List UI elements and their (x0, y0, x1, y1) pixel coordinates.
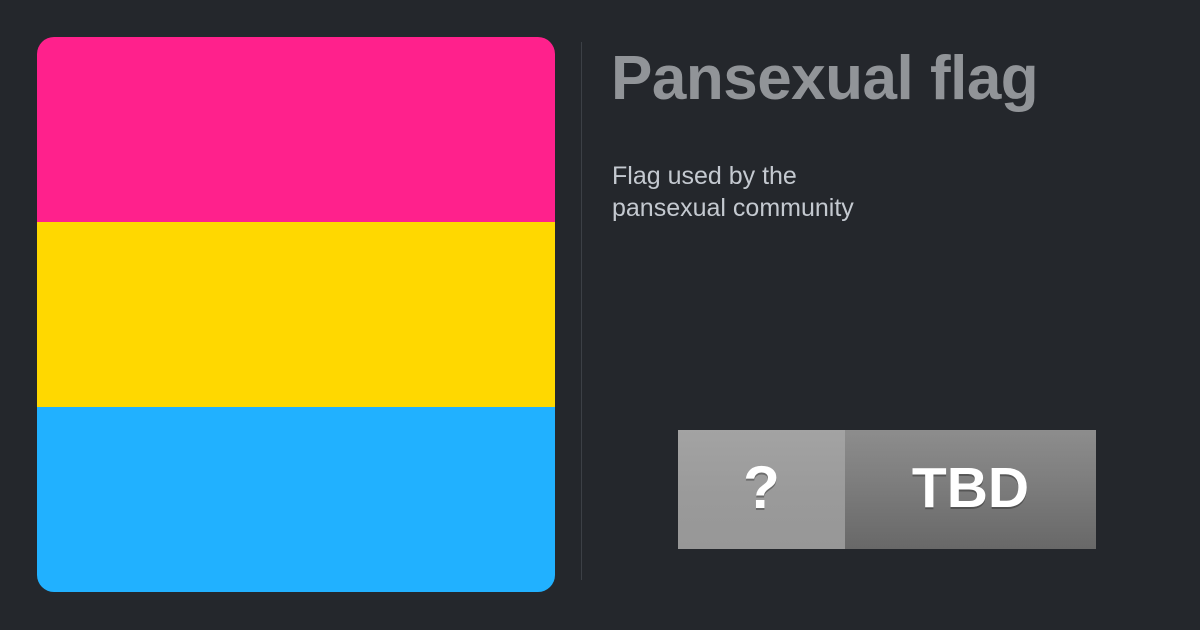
og-preview-card: Pansexual flag Flag used by the pansexua… (0, 0, 1200, 630)
flag-stripe-yellow (37, 222, 555, 407)
status-badge-left-segment: ? (678, 430, 845, 549)
status-badge-value: TBD (912, 460, 1029, 517)
status-badge-right-segment: TBD (845, 430, 1096, 549)
vertical-divider (581, 42, 582, 580)
pansexual-flag-image (37, 37, 555, 592)
page-subtitle: Flag used by the pansexual community (612, 160, 912, 224)
flag-stripe-magenta (37, 37, 555, 222)
flag-stripe-cyan (37, 407, 555, 592)
question-mark-icon: ? (743, 458, 780, 518)
info-column: Pansexual flag Flag used by the pansexua… (611, 37, 1151, 592)
status-badge: ? TBD (678, 430, 1096, 549)
page-title: Pansexual flag (611, 46, 1038, 111)
